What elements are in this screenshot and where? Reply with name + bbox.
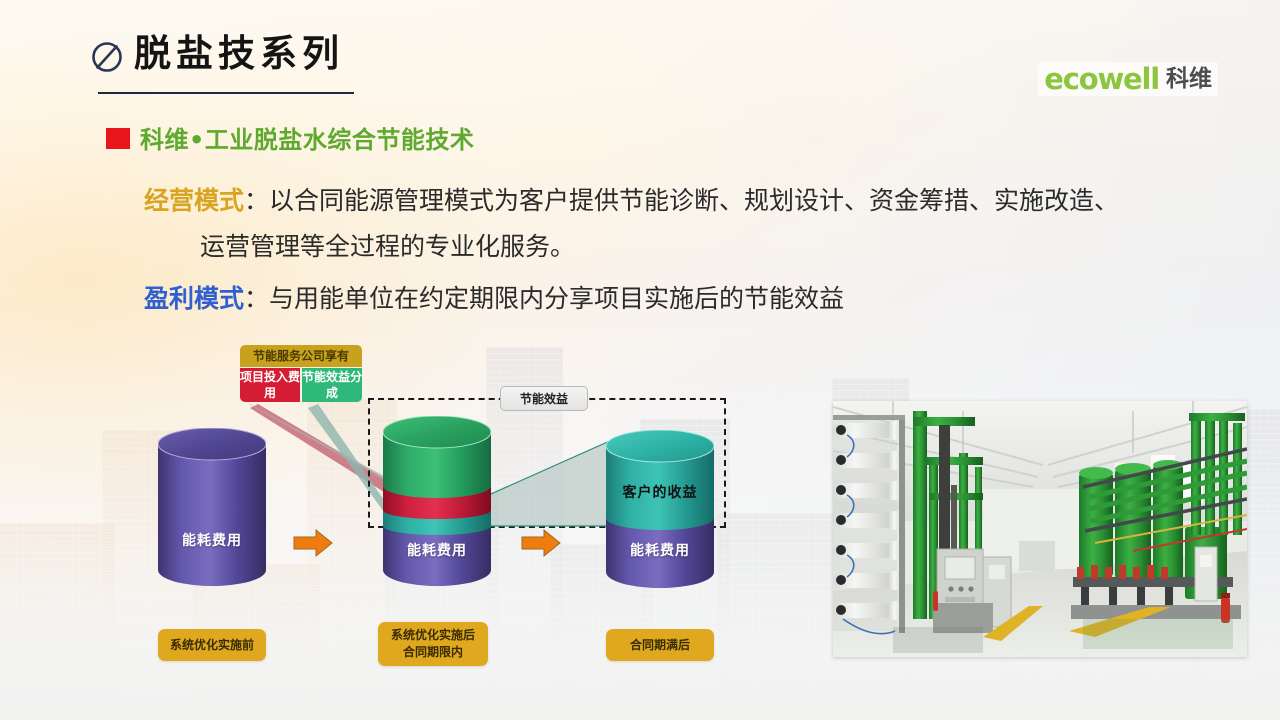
- caption-before-line1: 系统优化实施前: [170, 637, 254, 654]
- cylinder-after: 客户的收益 能耗费用: [606, 430, 714, 586]
- paragraph-2-colon: ：: [244, 284, 269, 313]
- logo-wordmark: ecowell: [1044, 64, 1159, 94]
- box-project-investment-cost: 项目投入费用: [240, 368, 300, 402]
- cylinder-during: 能耗费用: [383, 416, 491, 586]
- arrow-right-icon-1: [292, 528, 334, 558]
- paragraph-1-line2: 运营管理等全过程的专业化服务。: [144, 224, 1234, 270]
- brand-logo: ecowell 科维: [1038, 62, 1218, 96]
- savings-label-chip: 节能效益: [500, 386, 588, 411]
- title-underline: [98, 92, 354, 94]
- page-title: 脱盐技系列: [134, 31, 344, 77]
- cylinder-after-label-benefit: 客户的收益: [606, 482, 714, 502]
- paragraph-business-model: 经营模式：以合同能源管理模式为客户提供节能诊断、规划设计、资金筹措、实施改造、 …: [144, 178, 1234, 270]
- slide-root: 脱盐技系列 ecowell 科维 科维•工业脱盐水综合节能技术 经营模式：以合同…: [0, 0, 1280, 720]
- paragraph-2-line1: 与用能单位在约定期限内分享项目实施后的节能效益: [269, 284, 844, 313]
- cylinder-before: 能耗费用: [158, 428, 266, 586]
- paragraph-profit-model: 盈利模式：与用能单位在约定期限内分享项目实施后的节能效益: [144, 276, 1144, 322]
- desalination-plant-interior-photo: [833, 401, 1247, 657]
- box-project-investment-cost-label: 项目投入费用: [240, 369, 300, 401]
- section-heading: 科维•工业脱盐水综合节能技术: [140, 125, 474, 155]
- paragraph-1-colon: ：: [244, 186, 269, 215]
- cylinder-after-label-cost: 能耗费用: [606, 540, 714, 560]
- cylinder-during-label: 能耗费用: [383, 540, 491, 560]
- box-energy-saving-share: 节能效益分成: [302, 368, 362, 402]
- paragraph-1-line1: 以合同能源管理模式为客户提供节能诊断、规划设计、资金筹措、实施改造、: [269, 186, 1119, 215]
- box-energy-saving-share-label: 节能效益分成: [302, 369, 362, 401]
- arrow-right-icon-2: [520, 528, 562, 558]
- cylinder-before-label: 能耗费用: [158, 530, 266, 550]
- section-bullet-marker: [106, 128, 130, 149]
- caption-after: 合同期满后: [606, 629, 714, 661]
- plant-photo: [833, 401, 1247, 657]
- box-esco-share: 节能服务公司享有: [240, 345, 362, 367]
- caption-before: 系统优化实施前: [158, 629, 266, 661]
- paragraph-1-key: 经营模式: [144, 186, 244, 215]
- paragraph-2-key: 盈利模式: [144, 284, 244, 313]
- esco-savings-diagram: 节能效益 节能服务公司享有 项目投入费用 节能效益分成: [0, 330, 820, 670]
- caption-during-line1: 系统优化实施后: [391, 627, 475, 644]
- diameter-slash-circle-icon: [88, 37, 126, 75]
- logo-chinese-name: 科维: [1166, 64, 1212, 94]
- caption-after-line1: 合同期满后: [630, 637, 690, 654]
- caption-during: 系统优化实施后 合同期限内: [378, 622, 488, 666]
- caption-during-line2: 合同期限内: [403, 644, 463, 661]
